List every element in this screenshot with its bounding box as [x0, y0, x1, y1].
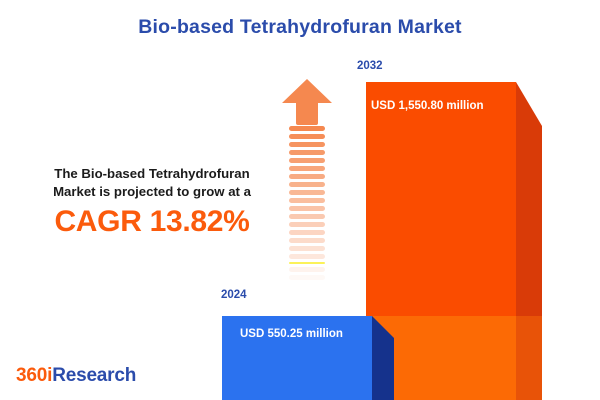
brand-logo: 360iResearch: [16, 365, 136, 387]
bar-chart: 2032 2024 USD 1,550.80 million USD 550.2…: [0, 0, 600, 400]
bar-value-2032: USD 1,550.80 million: [371, 100, 484, 112]
bar-label-year-2032: 2032: [357, 60, 383, 72]
bar-2032-side-lower-face: [516, 316, 542, 400]
logo-text-360i: 360i: [16, 365, 52, 386]
bar-label-year-2024: 2024: [221, 289, 247, 301]
bar-value-2024: USD 550.25 million: [240, 328, 343, 340]
infographic-canvas: Bio-based Tetrahydrofuran Market The Bio…: [0, 0, 600, 400]
logo-text-research: Research: [52, 365, 136, 386]
